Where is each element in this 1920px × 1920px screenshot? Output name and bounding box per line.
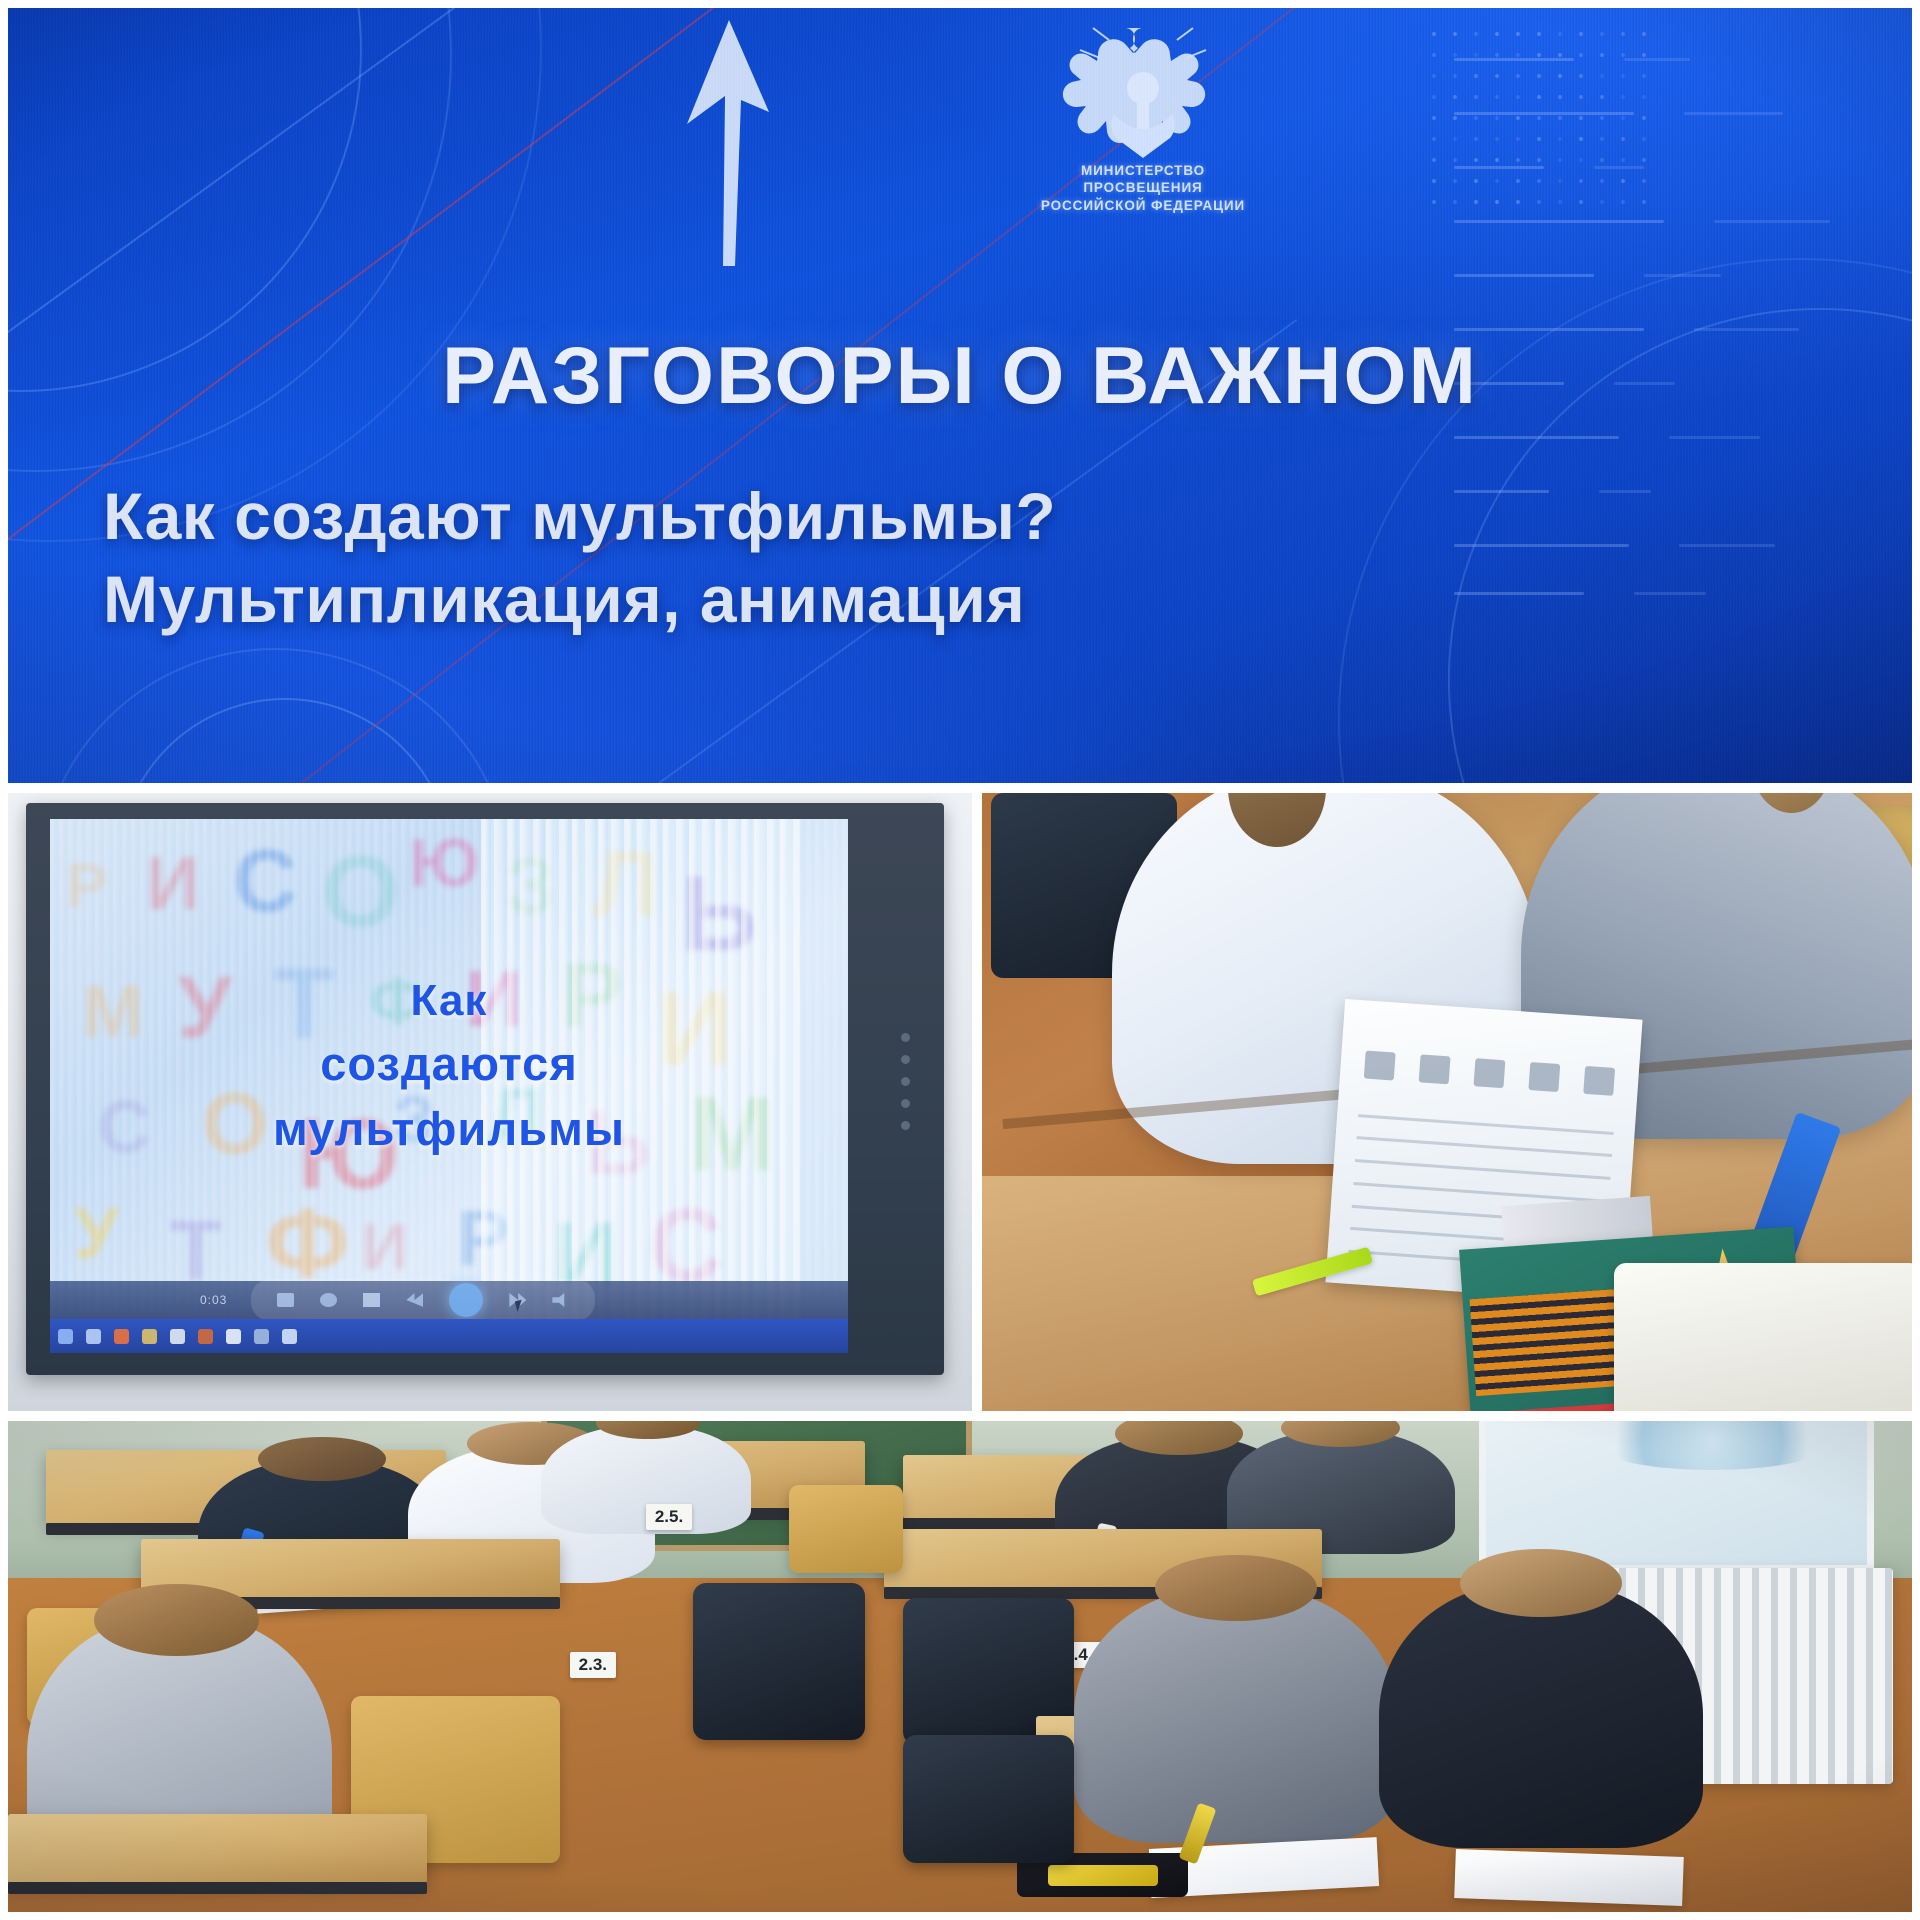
russian-eagle-icon: [1054, 10, 1232, 160]
pupil-head: [258, 1437, 387, 1481]
screenshot-button[interactable]: [277, 1293, 294, 1307]
presentation-icon[interactable]: [198, 1329, 213, 1344]
presentation-slide-panel: МИНИСТЕРСТВО ПРОСВЕЩЕНИЯ РОССИЙСКОЙ ФЕДЕ…: [8, 8, 1912, 783]
tv-bezel: РИСОЮЗЛЬМУТФИРИСОЮЗЛЬМУТФИРИС Как создаю…: [26, 803, 944, 1375]
pupil-head: [596, 1421, 701, 1439]
timecode-label: 0:03: [200, 1293, 227, 1307]
backpack: [903, 1735, 1074, 1863]
slide-subtitle: Как создают мультфильмы? Мультипликация,…: [103, 478, 1872, 637]
pupil-dark-uniform: [1379, 1583, 1703, 1848]
slide-subtitle-line-2: Мультипликация, анимация: [103, 561, 1872, 638]
windows-taskbar[interactable]: [50, 1319, 848, 1353]
desk-tag: 2.3.: [570, 1652, 616, 1678]
backpack: [693, 1583, 864, 1740]
playback-button-group[interactable]: [251, 1279, 595, 1321]
video-title-line-3: мультфильмы: [50, 1097, 848, 1162]
settings-icon[interactable]: [254, 1329, 269, 1344]
middle-row: РИСОЮЗЛЬМУТФИРИСОЮЗЛЬМУТФИРИС Как создаю…: [8, 793, 1912, 1411]
classroom-overview-panel: 2.5. 2.3. 1.4.: [8, 1421, 1912, 1912]
start-icon[interactable]: [58, 1329, 73, 1344]
refresh-button[interactable]: [320, 1293, 337, 1307]
desk-tag: 2.5.: [646, 1504, 692, 1530]
chair: [789, 1485, 903, 1573]
rewind-button[interactable]: [406, 1293, 423, 1307]
board-screen: РИСОЮЗЛЬМУТФИРИСОЮЗЛЬМУТФИРИС Как создаю…: [50, 819, 848, 1353]
pupils-worksheet-panel: [982, 793, 1912, 1411]
slide-title: РАЗГОВОРЫ О ВАЖНОМ: [8, 330, 1912, 423]
video-title-line-1: Как: [50, 971, 848, 1032]
pupil-head: [1751, 793, 1833, 813]
pupil-head: [1228, 793, 1326, 847]
pupil-head: [1155, 1555, 1317, 1621]
white-pencil-case: [1614, 1263, 1912, 1411]
pupil-head: [1460, 1549, 1622, 1618]
network-icon[interactable]: [282, 1329, 297, 1344]
stop-button[interactable]: [363, 1293, 380, 1307]
video-title: Как создаются мультфильмы: [50, 971, 848, 1161]
worksheet-icon-row: [1364, 1046, 1616, 1100]
decor-dot-grid: [1432, 32, 1662, 232]
document-icon[interactable]: [170, 1329, 185, 1344]
interactive-board-panel: РИСОЮЗЛЬМУТФИРИСОЮЗЛЬМУТФИРИС Как создаю…: [8, 793, 972, 1411]
ministry-emblem-block: МИНИСТЕРСТВО ПРОСВЕЩЕНИЯ РОССИЙСКОЙ ФЕДЕ…: [1028, 10, 1258, 225]
play-button[interactable]: [449, 1283, 483, 1317]
decor-arc: [38, 648, 512, 783]
volume-button[interactable]: [552, 1293, 569, 1307]
browser-icon[interactable]: [86, 1329, 101, 1344]
ministry-line-2: РОССИЙСКОЙ ФЕДЕРАЦИИ: [1028, 197, 1258, 214]
video-player-controls[interactable]: 0:03: [50, 1281, 848, 1319]
photo-collage: МИНИСТЕРСТВО ПРОСВЕЩЕНИЯ РОССИЙСКОЙ ФЕДЕ…: [0, 0, 1920, 1920]
pupil-head: [1115, 1421, 1244, 1455]
media-player-icon[interactable]: [114, 1329, 129, 1344]
pupil-head: [1281, 1421, 1400, 1447]
ministry-line-1: МИНИСТЕРСТВО ПРОСВЕЩЕНИЯ: [1028, 162, 1258, 197]
board-side-buttons[interactable]: [896, 1033, 914, 1183]
arrow-up-mark-icon: [663, 16, 793, 266]
worksheet-paper: [1454, 1849, 1684, 1906]
pupil-grey-hoodie: [1074, 1588, 1398, 1843]
video-title-line-2: создаются: [50, 1032, 848, 1097]
folder-icon[interactable]: [142, 1329, 157, 1344]
slide-subtitle-line-1: Как создают мультфильмы?: [103, 479, 1056, 553]
pupil-head: [94, 1584, 258, 1655]
desk: [8, 1814, 427, 1883]
chat-icon[interactable]: [226, 1329, 241, 1344]
